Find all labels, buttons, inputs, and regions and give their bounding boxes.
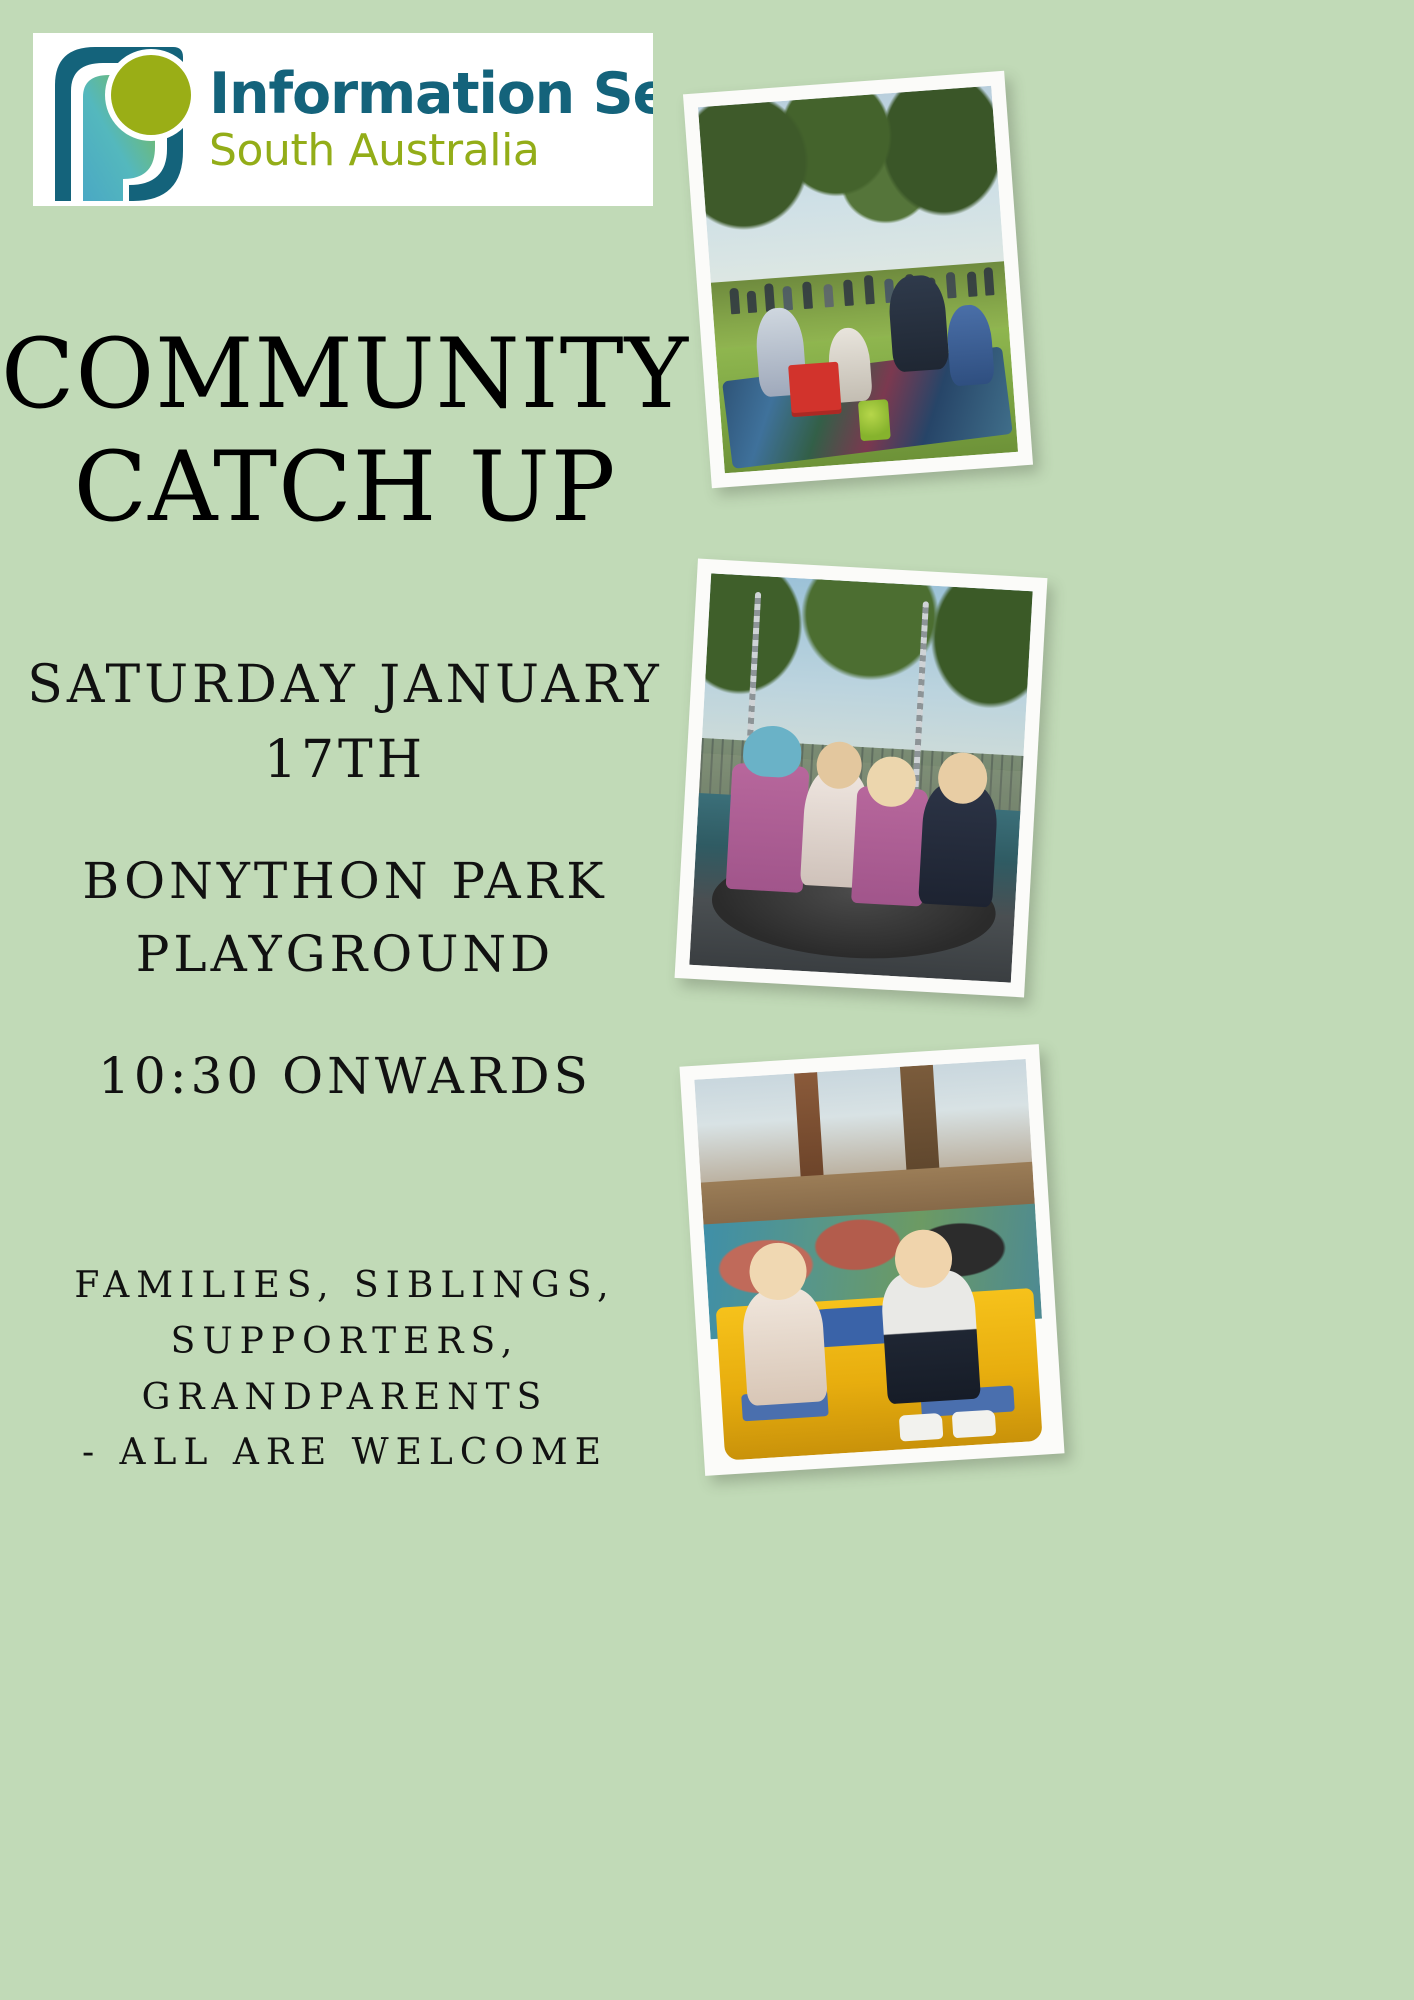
green-toy <box>858 399 890 441</box>
boy-shoe-left <box>898 1413 943 1442</box>
audience-line-4: - ALL ARE WELCOME <box>0 1425 690 1481</box>
event-date-line-1: SATURDAY JANUARY <box>0 648 690 723</box>
event-audience-note: FAMILIES, SIBLINGS, SUPPORTERS, GRANDPAR… <box>0 1258 690 1481</box>
boy-body <box>880 1269 981 1404</box>
poster-text-column: COMMUNITY CATCH UP SATURDAY JANUARY 17TH… <box>0 0 690 2000</box>
event-time: 10:30 ONWARDS <box>0 1040 690 1113</box>
tree-trunk <box>900 1065 940 1181</box>
page-title: COMMUNITY CATCH UP <box>0 318 690 545</box>
audience-line-2: SUPPORTERS, <box>0 1314 690 1370</box>
toddler-body <box>741 1286 828 1405</box>
poster-canvas: Information Service South Australia COMM… <box>0 0 1414 2000</box>
audience-line-3: GRANDPARENTS <box>0 1370 690 1426</box>
photo-picnic-in-park <box>683 71 1033 489</box>
child-one-body <box>726 763 810 893</box>
red-picnic-basket <box>788 362 842 417</box>
event-date: SATURDAY JANUARY 17TH <box>0 648 690 799</box>
boy-shoe-right <box>951 1409 996 1438</box>
audience-line-1: FAMILIES, SIBLINGS, <box>0 1258 690 1314</box>
photo-children-in-yellow-boat <box>679 1044 1064 1476</box>
photo-picnic-image <box>698 86 1018 474</box>
headline-line-2: CATCH UP <box>0 431 690 544</box>
photo-swing-image <box>689 573 1032 982</box>
event-venue-line-2: PLAYGROUND <box>0 918 690 991</box>
headline-line-1: COMMUNITY <box>0 318 690 431</box>
event-date-line-2: 17TH <box>0 723 690 798</box>
event-time-text: 10:30 ONWARDS <box>0 1040 690 1113</box>
event-venue: BONYTHON PARK PLAYGROUND <box>0 845 690 990</box>
event-venue-line-1: BONYTHON PARK <box>0 845 690 918</box>
photo-boat-image <box>694 1059 1049 1461</box>
photo-children-on-tyre-swing <box>675 559 1048 998</box>
